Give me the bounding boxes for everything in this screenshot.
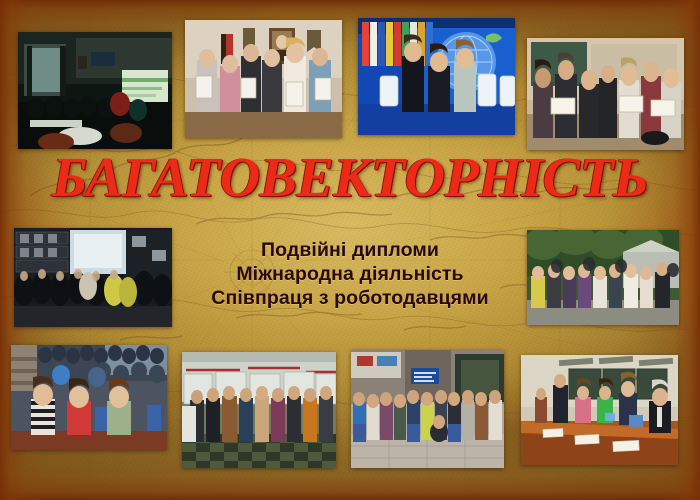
caption-line-1: Подвійні дипломи [0, 238, 700, 262]
photo-diploma-ceremony-office [185, 20, 342, 138]
poster-canvas: БАГАТОВЕКТОРНІСТЬ Подвійні дипломи Міжна… [0, 0, 700, 500]
photo-certificate-award-classroom [527, 38, 684, 150]
caption-line-3: Співпраця з роботодавцями [0, 286, 700, 310]
poster-caption-block: Подвійні дипломи Міжнародна діяльність С… [0, 238, 700, 310]
photo-campus-entrance-group [351, 350, 504, 468]
photo-committee-defence [521, 355, 678, 465]
caption-line-2: Міжнародна діяльність [0, 262, 700, 286]
photo-auditorium-students [11, 345, 167, 450]
photo-lecture-hall-presentation [18, 32, 172, 149]
photo-enterprise-visit-group [182, 352, 336, 468]
photo-international-expo-flags [358, 18, 515, 135]
poster-headline: БАГАТОВЕКТОРНІСТЬ [0, 150, 700, 206]
